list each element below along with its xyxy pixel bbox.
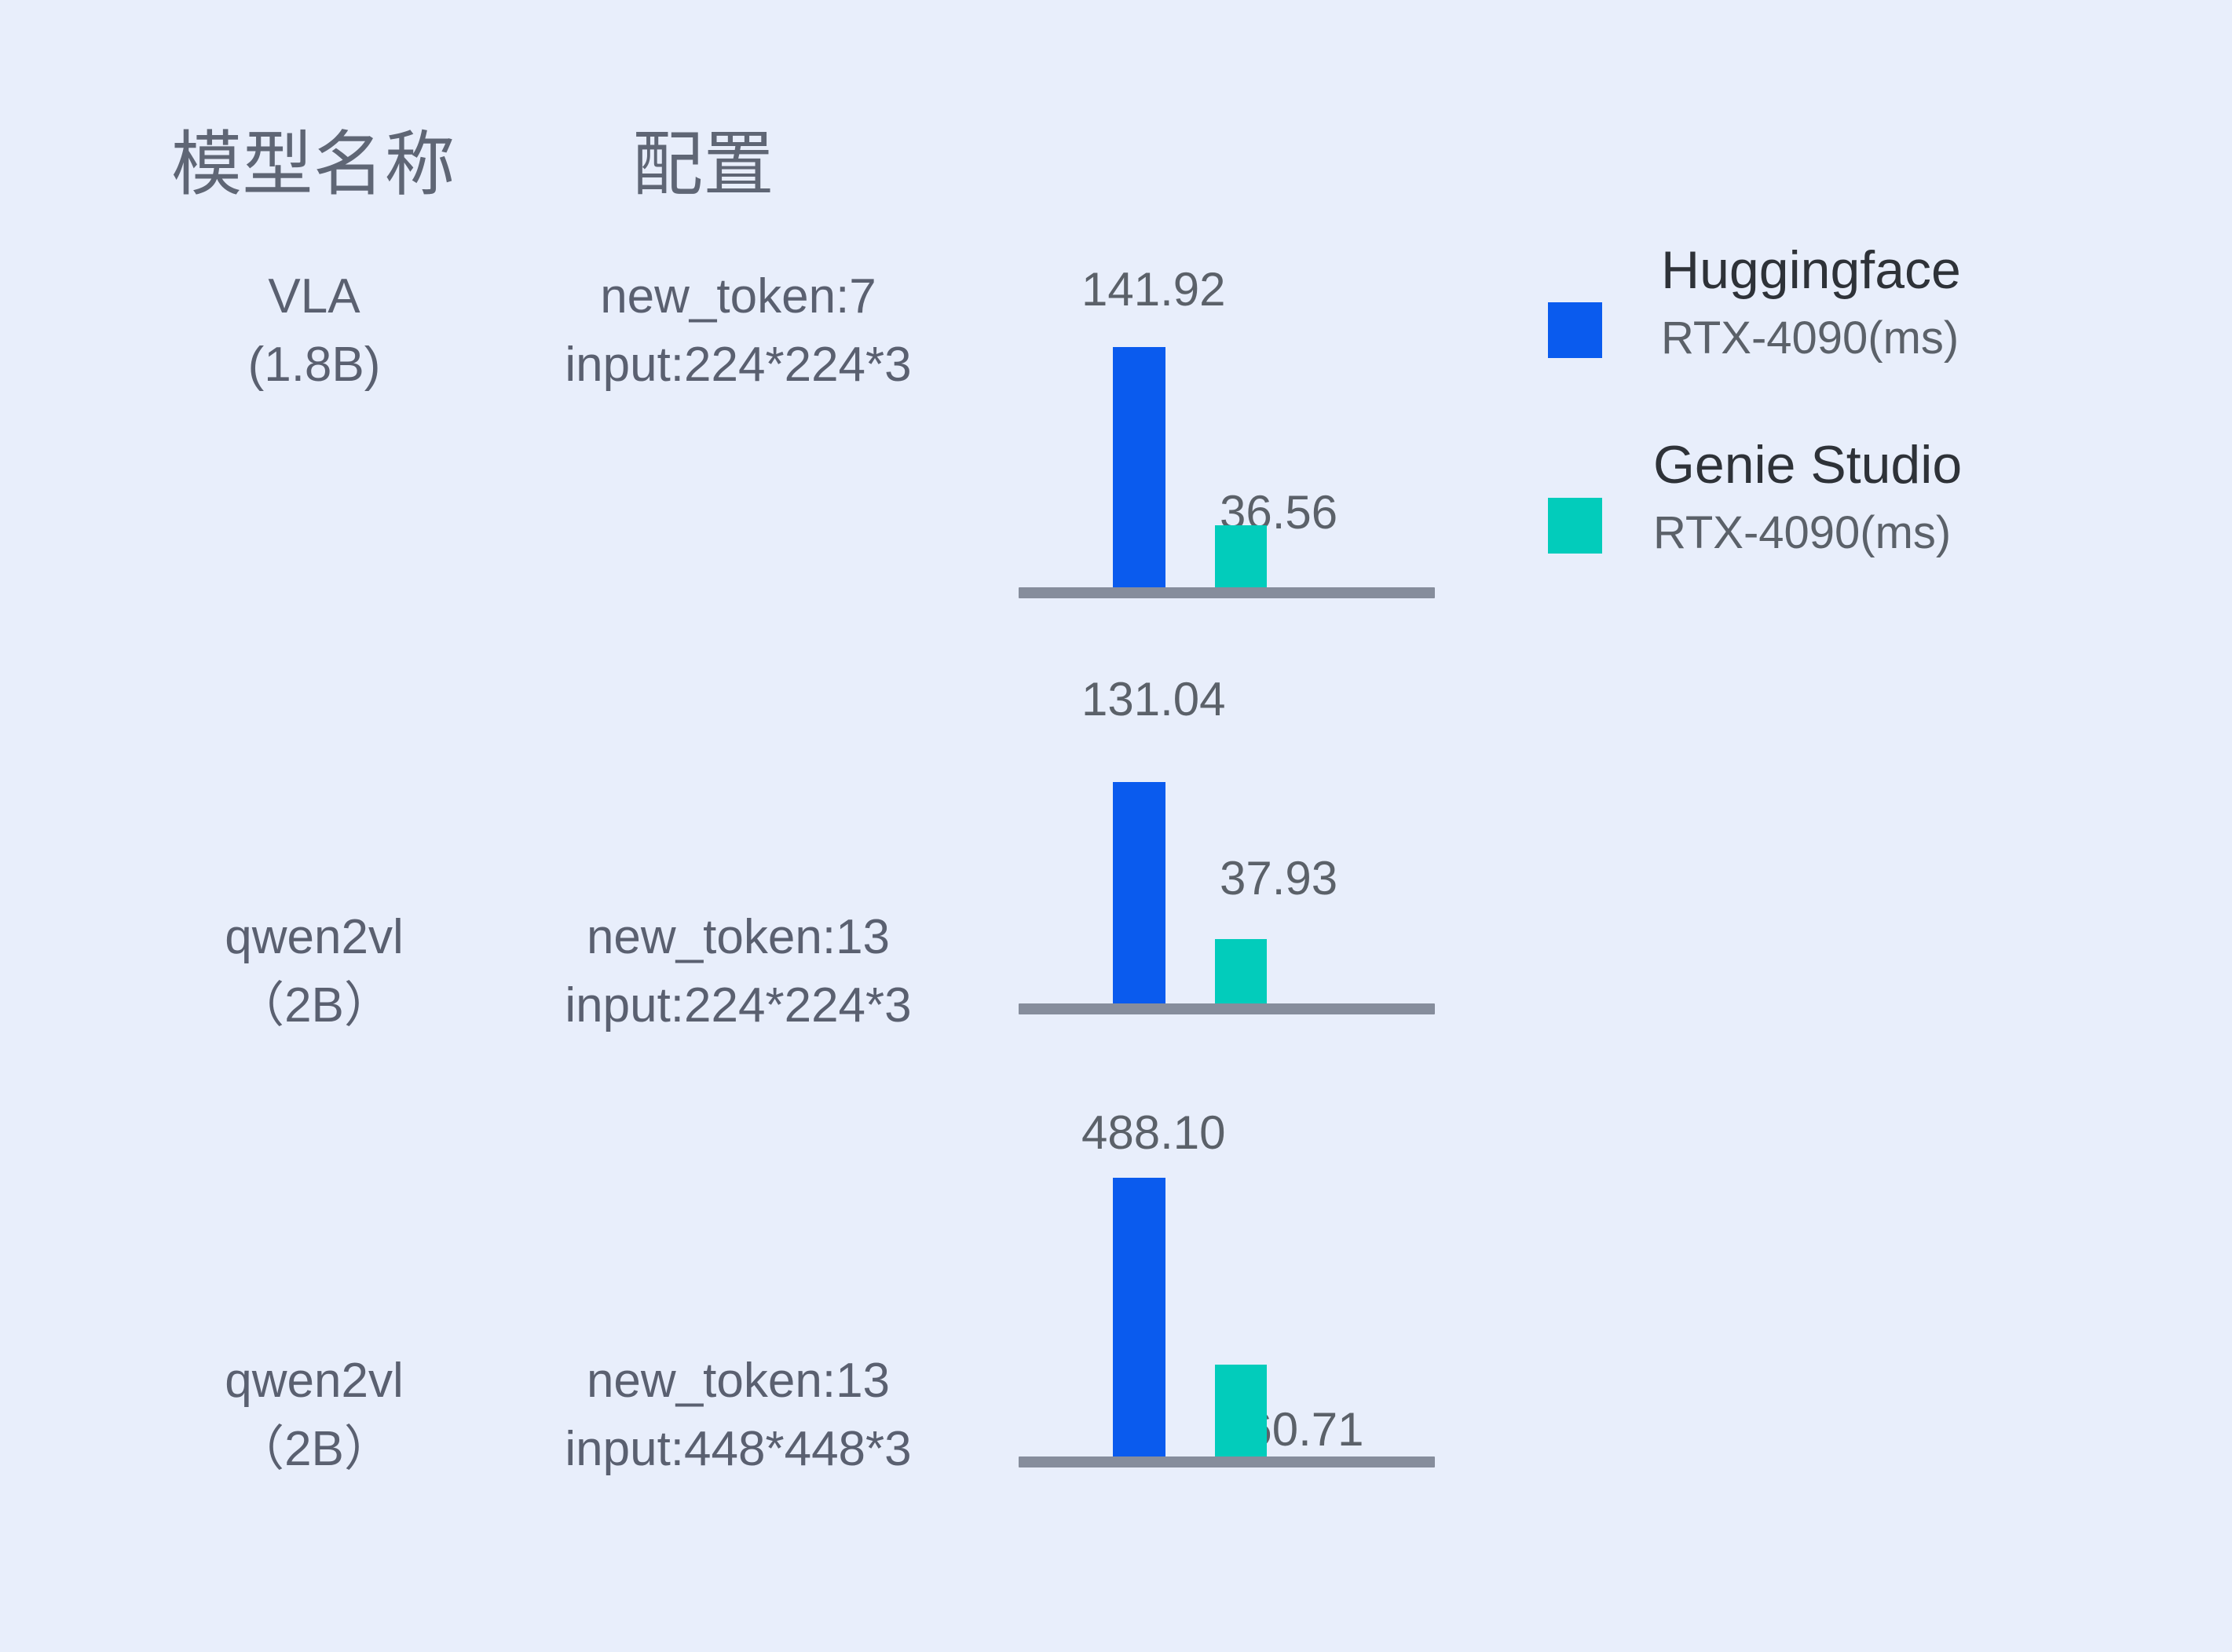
cell-model-name: qwen2vl （2B） bbox=[118, 903, 510, 1040]
cell-model-name: VLA (1.8B) bbox=[118, 262, 510, 399]
bar-huggingface bbox=[1113, 782, 1165, 1003]
config-line-2: input:224*224*3 bbox=[471, 331, 1005, 399]
cell-config: new_token:13 input:448*448*3 bbox=[471, 1347, 1005, 1483]
model-name-line-2: （2B） bbox=[118, 971, 510, 1040]
bar-genie-studio bbox=[1215, 939, 1267, 1003]
axis-baseline bbox=[1019, 587, 1435, 598]
cell-model-name: qwen2vl （2B） bbox=[118, 1347, 510, 1483]
bar-genie-studio bbox=[1215, 1365, 1267, 1456]
legend-item-sublabel: RTX-4090(ms) bbox=[1661, 305, 2211, 372]
table-row: qwen2vl （2B） new_token:13 input:224*224*… bbox=[0, 652, 2232, 1036]
legend-item-label: Genie Studio bbox=[1653, 430, 2203, 499]
config-line-1: new_token:7 bbox=[471, 262, 1005, 331]
bar-panel: 141.92 36.56 bbox=[1019, 236, 1435, 597]
cell-config: new_token:7 input:224*224*3 bbox=[471, 262, 1005, 399]
legend-item-huggingface[interactable]: Huggingface RTX-4090(ms) bbox=[1539, 236, 2215, 400]
chart-legend: Huggingface RTX-4090(ms) Genie Studio RT… bbox=[1539, 236, 2215, 581]
legend-color-swatch-icon bbox=[1548, 498, 1602, 554]
model-name-line-1: qwen2vl bbox=[118, 1347, 510, 1415]
bar-genie-studio bbox=[1215, 525, 1267, 587]
legend-item-text: Huggingface RTX-4090(ms) bbox=[1661, 236, 2211, 372]
bar-huggingface bbox=[1113, 1178, 1165, 1464]
bar-panel: 488.10 160.71 bbox=[1019, 1099, 1435, 1470]
column-header-model-name: 模型名称 bbox=[171, 127, 456, 203]
legend-item-text: Genie Studio RTX-4090(ms) bbox=[1653, 430, 2203, 567]
bar-huggingface bbox=[1113, 347, 1165, 587]
benchmark-comparison-chart: 模型名称 配置 VLA (1.8B) new_token:7 input:224… bbox=[0, 0, 2232, 1652]
axis-baseline bbox=[1019, 1003, 1435, 1014]
legend-item-sublabel: RTX-4090(ms) bbox=[1653, 499, 2203, 567]
config-line-2: input:224*224*3 bbox=[471, 971, 1005, 1040]
bar-value-huggingface: 131.04 bbox=[1081, 675, 1226, 724]
table-row: qwen2vl （2B） new_token:13 input:448*448*… bbox=[0, 1099, 2232, 1492]
legend-item-genie-studio[interactable]: Genie Studio RTX-4090(ms) bbox=[1539, 430, 2215, 595]
model-name-line-1: VLA bbox=[118, 262, 510, 331]
model-name-line-2: (1.8B) bbox=[118, 331, 510, 399]
bar-panel: 131.04 37.93 bbox=[1019, 652, 1435, 1013]
legend-item-label: Huggingface bbox=[1661, 236, 2211, 305]
config-line-1: new_token:13 bbox=[471, 903, 1005, 971]
column-header-config: 配置 bbox=[632, 127, 774, 203]
cell-config: new_token:13 input:224*224*3 bbox=[471, 903, 1005, 1040]
model-name-line-2: （2B） bbox=[118, 1415, 510, 1483]
config-line-2: input:448*448*3 bbox=[471, 1415, 1005, 1483]
model-name-line-1: qwen2vl bbox=[118, 903, 510, 971]
bar-value-huggingface: 141.92 bbox=[1081, 265, 1226, 314]
config-line-1: new_token:13 bbox=[471, 1347, 1005, 1415]
axis-baseline bbox=[1019, 1456, 1435, 1467]
legend-color-swatch-icon bbox=[1548, 302, 1602, 358]
bar-value-huggingface: 488.10 bbox=[1081, 1109, 1226, 1157]
